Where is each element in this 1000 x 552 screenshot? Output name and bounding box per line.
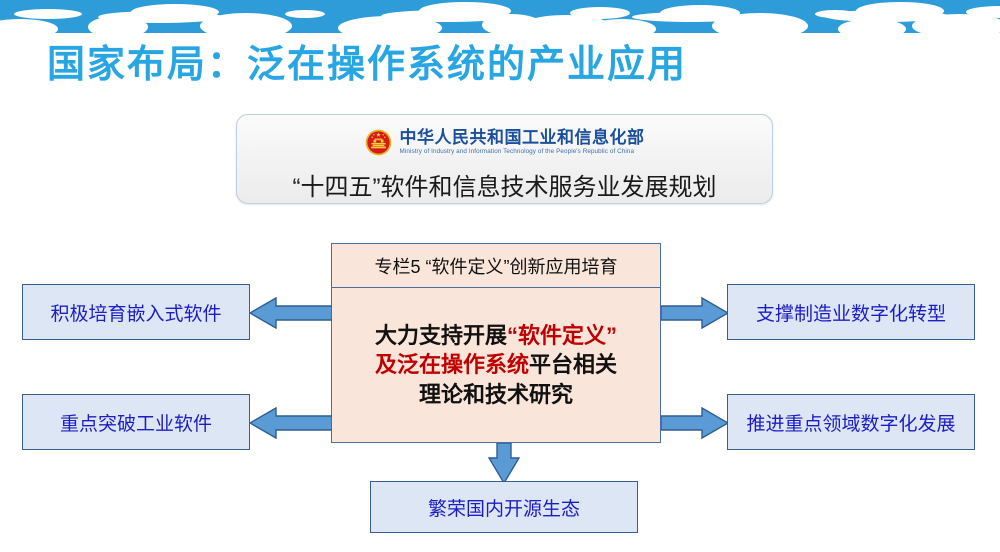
arrow-left-bottom-icon: [250, 406, 332, 440]
center-body-line1-highlight: “软件定义”: [507, 323, 617, 348]
arrow-left-top-icon: [250, 296, 332, 330]
arrow-right-bottom-icon: [661, 406, 728, 440]
box-right-bottom[interactable]: 推进重点领域数字化发展: [727, 394, 975, 450]
center-box-header: 专栏5 “软件定义”创新应用培育: [332, 244, 660, 288]
box-left-top[interactable]: 积极培育嵌入式软件: [22, 284, 250, 340]
arrow-right-top-icon: [661, 296, 728, 330]
box-bottom[interactable]: 繁荣国内开源生态: [370, 481, 638, 533]
ministry-plan-card: 中华人民共和国工业和信息化部 Ministry of Industry and …: [236, 114, 773, 204]
plan-title: “十四五”软件和信息技术服务业发展规划: [237, 167, 772, 202]
center-body-line2-highlight: 及泛在操作系统: [375, 352, 529, 377]
ministry-name-cn: 中华人民共和国工业和信息化部: [400, 129, 645, 146]
box-right-top[interactable]: 支撑制造业数字化转型: [727, 284, 975, 340]
page-title: 国家布局：泛在操作系统的产业应用: [47, 33, 687, 88]
center-body-line1-a: 大力支持开展: [375, 323, 507, 348]
ministry-name-en: Ministry of Industry and Information Tec…: [400, 149, 645, 155]
center-body-line2-b: 平台相关: [529, 352, 617, 377]
center-body-line3: 理论和技术研究: [419, 382, 573, 407]
center-highlight-box: 专栏5 “软件定义”创新应用培育 大力支持开展“软件定义” 及泛在操作系统平台相…: [331, 243, 661, 443]
ministry-brand: 中华人民共和国工业和信息化部 Ministry of Industry and …: [237, 115, 772, 161]
arrow-down-icon: [487, 443, 521, 483]
box-left-bottom[interactable]: 重点突破工业软件: [22, 394, 250, 450]
ministry-text-wrap: 中华人民共和国工业和信息化部 Ministry of Industry and …: [400, 129, 645, 155]
china-national-emblem-icon: [365, 129, 392, 156]
center-box-body: 大力支持开展“软件定义” 及泛在操作系统平台相关 理论和技术研究: [332, 288, 660, 442]
